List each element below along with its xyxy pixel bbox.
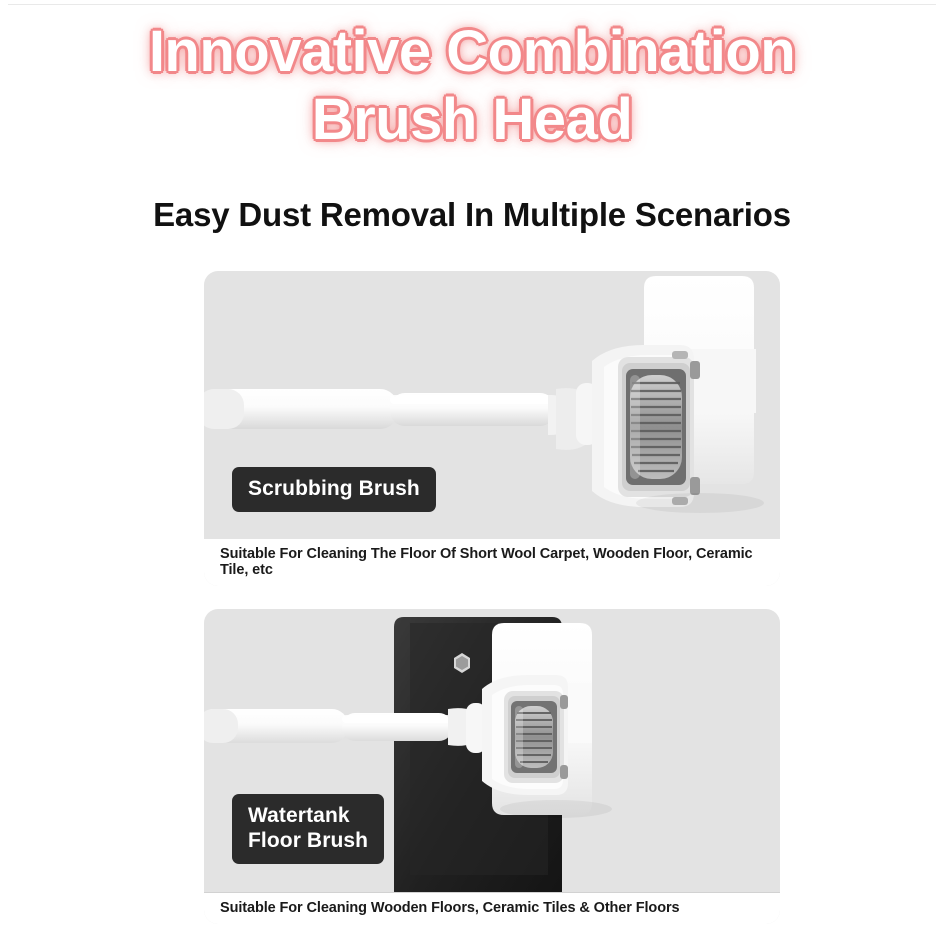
badge-watertank-floor-brush: Watertank Floor Brush	[232, 794, 384, 864]
caption-watertank-floor-brush: Suitable For Cleaning Wooden Floors, Cer…	[204, 892, 780, 924]
top-divider	[8, 4, 936, 5]
feature-card-watertank-floor-brush: Watertank Floor Brush Suitable For Clean…	[204, 609, 780, 924]
page-title-line-1: Innovative Combination	[0, 18, 944, 86]
product-feature-page: Innovative Combination Brush Head Easy D…	[0, 0, 944, 944]
page-subtitle: Easy Dust Removal In Multiple Scenarios	[0, 196, 944, 234]
watertank-floor-brush-illustration	[204, 609, 780, 924]
page-title-line-2: Brush Head	[0, 86, 944, 154]
page-title: Innovative Combination Brush Head	[0, 18, 944, 155]
feature-card-scrubbing-brush: Scrubbing Brush Suitable For Cleaning Th…	[204, 271, 780, 586]
caption-scrubbing-brush: Suitable For Cleaning The Floor Of Short…	[204, 539, 780, 586]
badge-scrubbing-brush: Scrubbing Brush	[232, 467, 436, 512]
